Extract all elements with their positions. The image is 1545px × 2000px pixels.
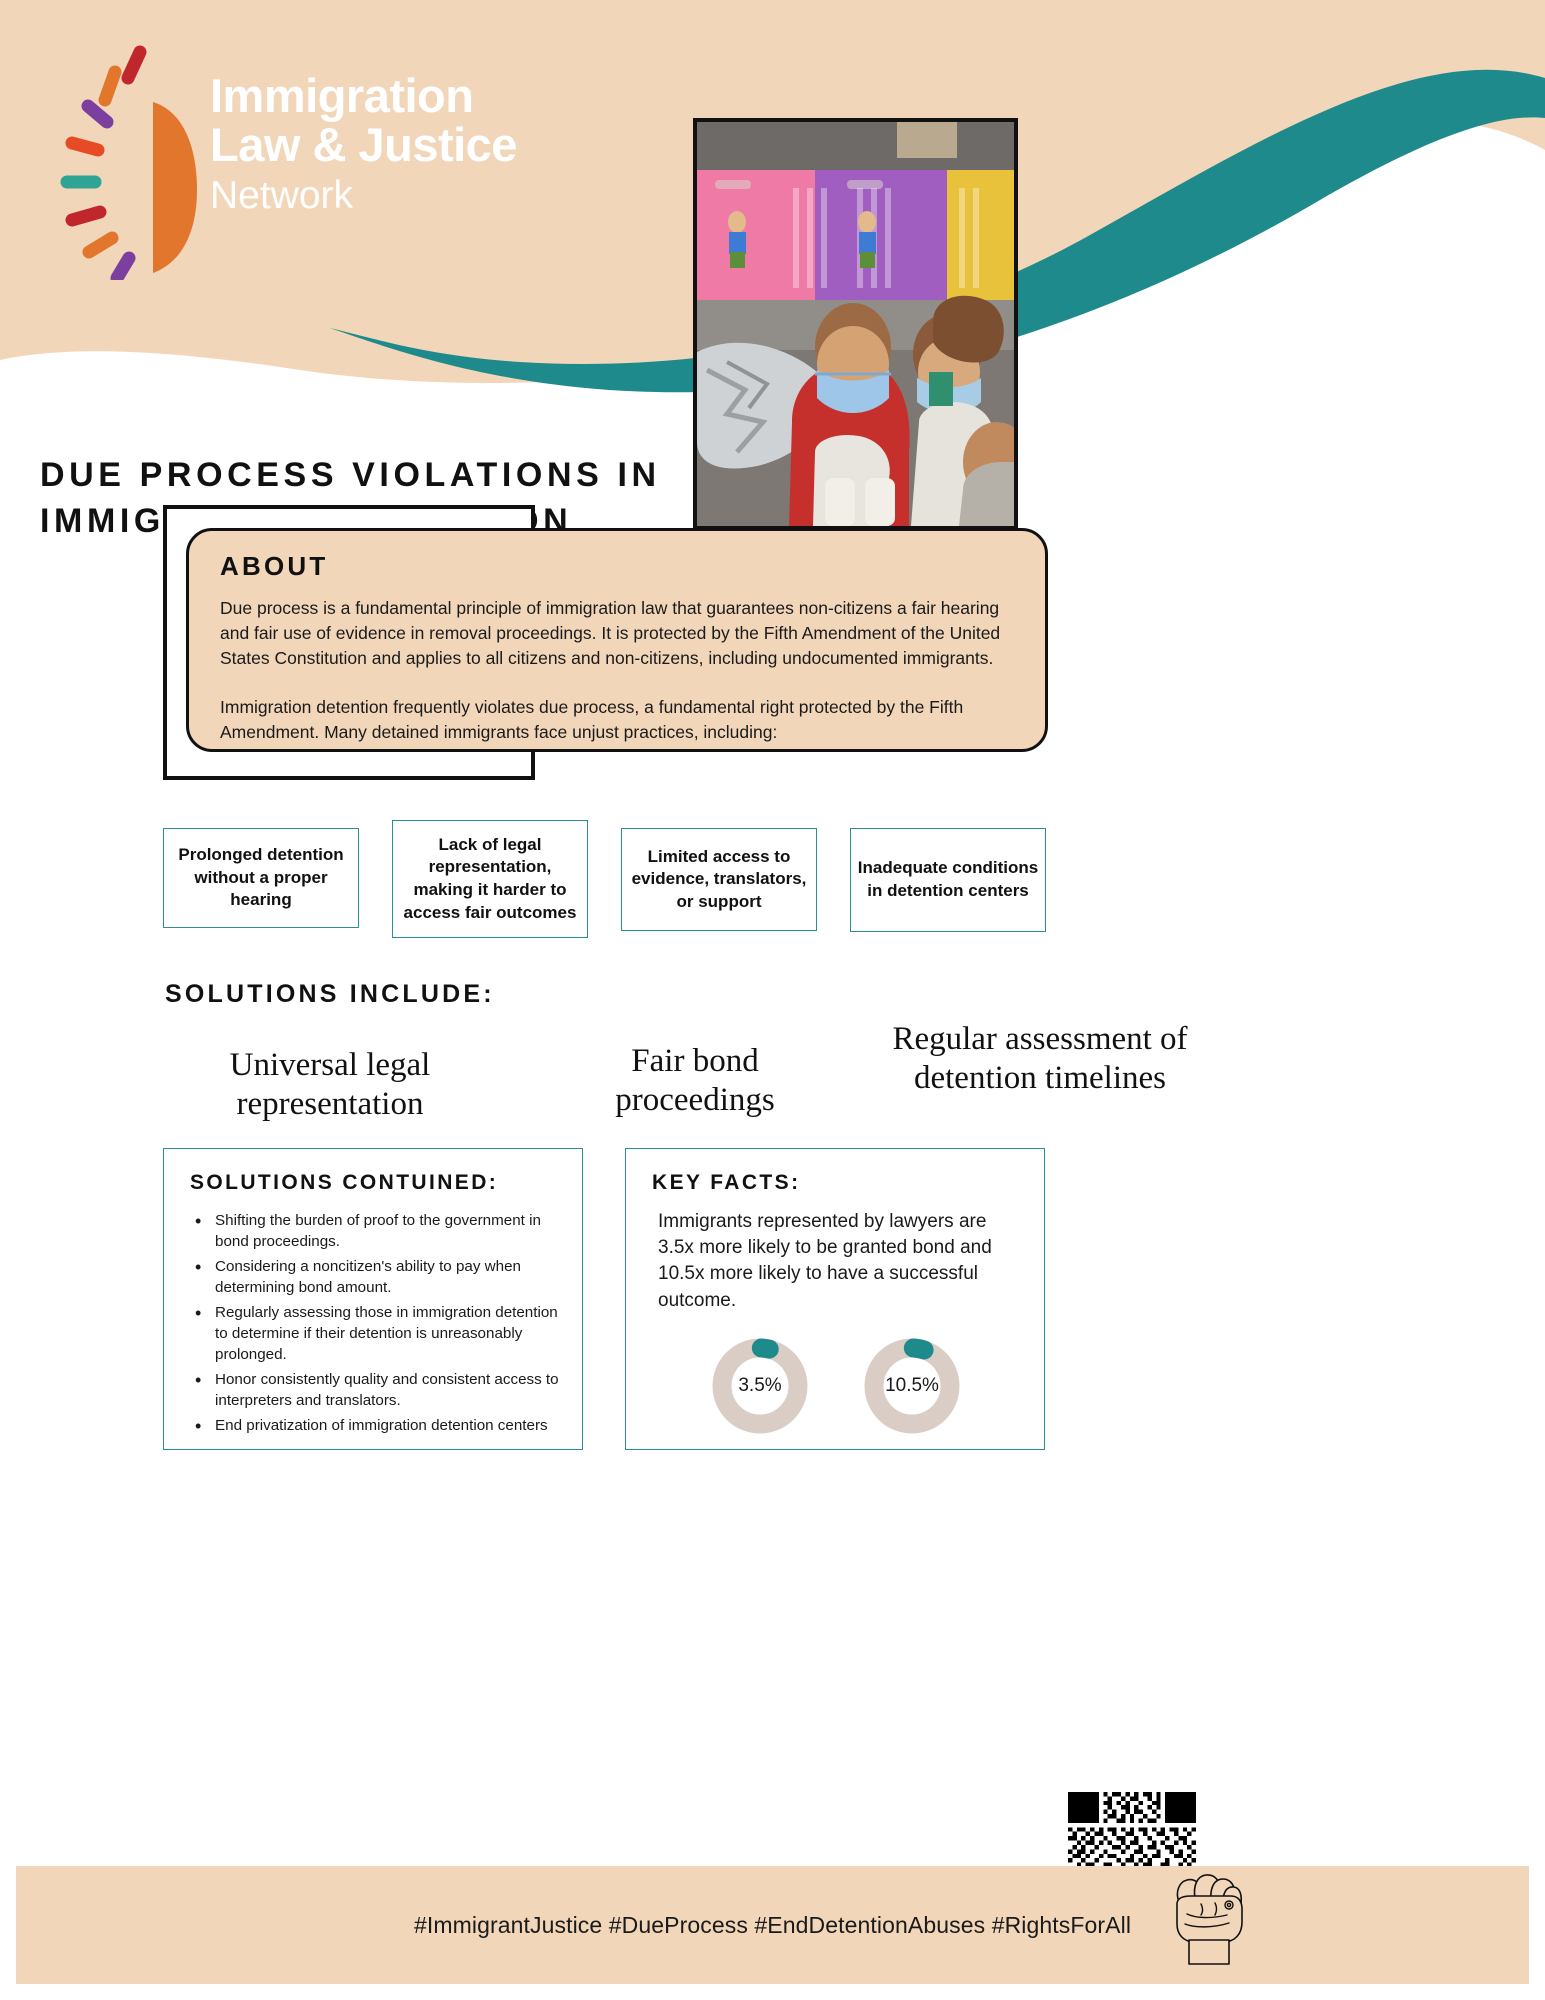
list-item: Regularly assessing those in immigration… — [190, 1303, 562, 1366]
violation-box-1: Prolonged detention without a proper hea… — [163, 828, 359, 928]
raised-fist-icon — [1165, 1858, 1243, 1966]
solution-item-1: Universal legal representation — [180, 1046, 480, 1124]
donut-value-1: 3.5% — [708, 1334, 812, 1438]
solutions-heading: SOLUTIONS INCLUDE: — [165, 980, 495, 1009]
footer-hashtags: #ImmigrantJustice #DueProcess #EndDetent… — [16, 1912, 1529, 1939]
brand-line-3: Network — [210, 172, 517, 221]
list-item: Considering a noncitizen's ability to pa… — [190, 1257, 562, 1299]
list-item: End privatization of immigration detenti… — [190, 1416, 562, 1437]
brand-line-2: Law & Justice — [210, 121, 517, 170]
list-item: Shifting the burden of proof to the gove… — [190, 1211, 562, 1253]
about-paragraph-1: Due process is a fundamental principle o… — [220, 596, 1019, 671]
key-facts-body: Immigrants represented by lawyers are 3.… — [652, 1209, 1024, 1314]
sun-rays-icon — [45, 30, 200, 280]
violation-box-3: Limited access to evidence, translators,… — [621, 828, 817, 931]
violation-box-4: Inadequate conditions in detention cente… — [850, 828, 1046, 932]
key-facts-heading: KEY FACTS: — [652, 1171, 1024, 1195]
donut-chart-2: 10.5% — [860, 1334, 964, 1438]
key-facts-panel: KEY FACTS: Immigrants represented by law… — [625, 1148, 1045, 1450]
violation-box-2: Lack of legal representation, making it … — [392, 820, 588, 938]
donut-chart-1: 3.5% — [708, 1334, 812, 1438]
solutions-continued-heading: SOLUTIONS CONTUINED: — [190, 1171, 562, 1195]
solution-item-2: Fair bond proceedings — [560, 1042, 830, 1120]
photo-illustration — [697, 122, 1014, 526]
page-footer: #ImmigrantJustice #DueProcess #EndDetent… — [16, 1866, 1529, 1984]
solutions-continued-panel: SOLUTIONS CONTUINED: Shifting the burden… — [163, 1148, 583, 1450]
about-paragraph-2: Immigration detention frequently violate… — [220, 695, 1019, 745]
solution-item-3: Regular assessment of detention timeline… — [840, 1020, 1240, 1098]
key-facts-donut-charts: 3.5% 10.5% — [626, 1334, 1046, 1438]
list-item: Honor consistently quality and consisten… — [190, 1370, 562, 1412]
about-heading: ABOUT — [220, 551, 1019, 582]
about-card: ABOUT Due process is a fundamental princ… — [186, 528, 1048, 752]
brand-line-1: Immigration — [210, 72, 517, 121]
brand-logo: Immigration Law & Justice Network — [45, 30, 665, 290]
donut-value-2: 10.5% — [860, 1334, 964, 1438]
detention-photo — [693, 118, 1018, 530]
solutions-continued-list: Shifting the burden of proof to the gove… — [190, 1211, 562, 1437]
solutions-list: Universal legal representation Fair bond… — [160, 1020, 1410, 1130]
violations-row: Prolonged detention without a proper hea… — [163, 820, 1093, 940]
